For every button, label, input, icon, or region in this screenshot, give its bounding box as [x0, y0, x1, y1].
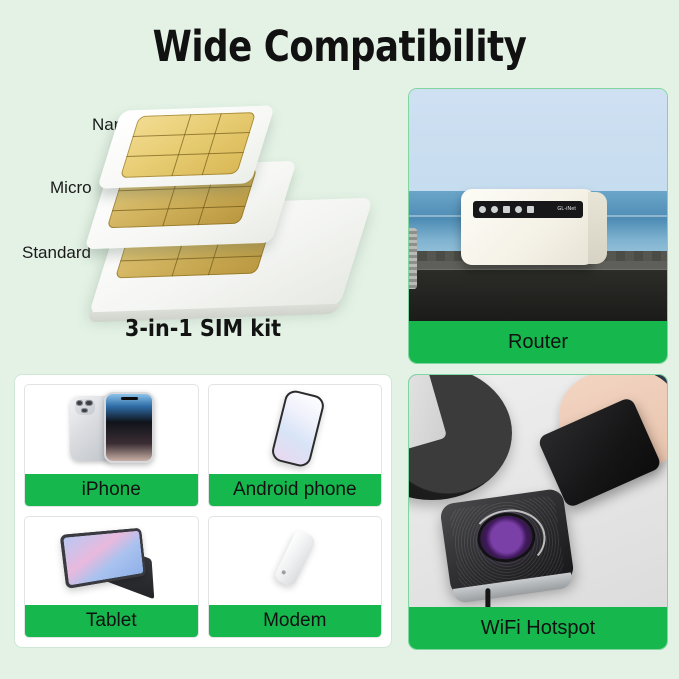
sim-kit-caption: 3-in-1 SIM kit: [12, 316, 394, 342]
page-title: Wide Compatibility: [27, 22, 652, 72]
signal-bars-icon: [527, 206, 534, 213]
router-photo: GL-iNet: [409, 89, 667, 321]
nano-sim-chip: [120, 112, 256, 178]
panel-wifi-hotspot[interactable]: WiFi Hotspot: [408, 374, 668, 650]
hotspot-label-bar: WiFi Hotspot: [409, 607, 667, 649]
infographic-page: Wide Compatibility Nano Micro Standard: [0, 0, 679, 679]
sim-stack-illustration: Nano Micro Standard: [12, 92, 394, 320]
sim-label-micro: Micro: [50, 178, 92, 198]
router-led-strip: GL-iNet: [473, 201, 583, 218]
router-device: GL-iNet: [461, 189, 595, 266]
brand-logo: GL-iNet: [557, 206, 576, 212]
grid-cell-android-phone[interactable]: Android phone: [208, 384, 383, 507]
deck-surface: [409, 261, 667, 321]
hotspot-label: WiFi Hotspot: [481, 617, 595, 640]
sky-background: [409, 89, 667, 191]
android-phone-icon: [209, 385, 382, 474]
router-label: Router: [508, 331, 568, 354]
iphone-front: [104, 392, 154, 463]
tablet-label: Tablet: [86, 610, 137, 632]
camera-module-icon: [75, 399, 95, 415]
modem-label: Modem: [263, 610, 326, 632]
grid-cell-modem[interactable]: Modem: [208, 516, 383, 639]
android-label-bar: Android phone: [209, 474, 382, 506]
hotspot-photo: [409, 375, 667, 607]
tablet-label-bar: Tablet: [25, 605, 198, 637]
sim-label-standard: Standard: [22, 243, 91, 263]
modem-body: [274, 529, 318, 588]
hotspot-status-ring: [468, 504, 549, 573]
router-label-bar: Router: [409, 321, 667, 363]
globe-icon: [491, 206, 498, 213]
sim-kit-section: Nano Micro Standard 3-in-1 SIM kit: [12, 92, 394, 364]
iphone-label: iPhone: [82, 479, 141, 501]
grid-cell-iphone[interactable]: iPhone: [24, 384, 199, 507]
railing: [409, 228, 417, 288]
network-icon: [503, 206, 510, 213]
iphone-label-bar: iPhone: [25, 474, 198, 506]
hotspot-device: [439, 487, 575, 596]
router-side-face: [588, 192, 607, 264]
grid-cell-tablet[interactable]: Tablet: [24, 516, 199, 639]
charging-cable: [486, 588, 491, 607]
modem-label-bar: Modem: [209, 605, 382, 637]
dynamic-island: [121, 397, 138, 400]
panel-router[interactable]: GL-iNet Router: [408, 88, 668, 364]
iphone-icon: [25, 385, 198, 474]
android-phone-body: [269, 388, 325, 468]
usb-modem-icon: [209, 517, 382, 606]
power-icon: [479, 206, 486, 213]
device-grid: iPhone Android phone Tablet: [14, 374, 392, 648]
wifi-icon: [515, 206, 522, 213]
android-label: Android phone: [233, 479, 357, 501]
tablet-icon: [25, 517, 198, 606]
